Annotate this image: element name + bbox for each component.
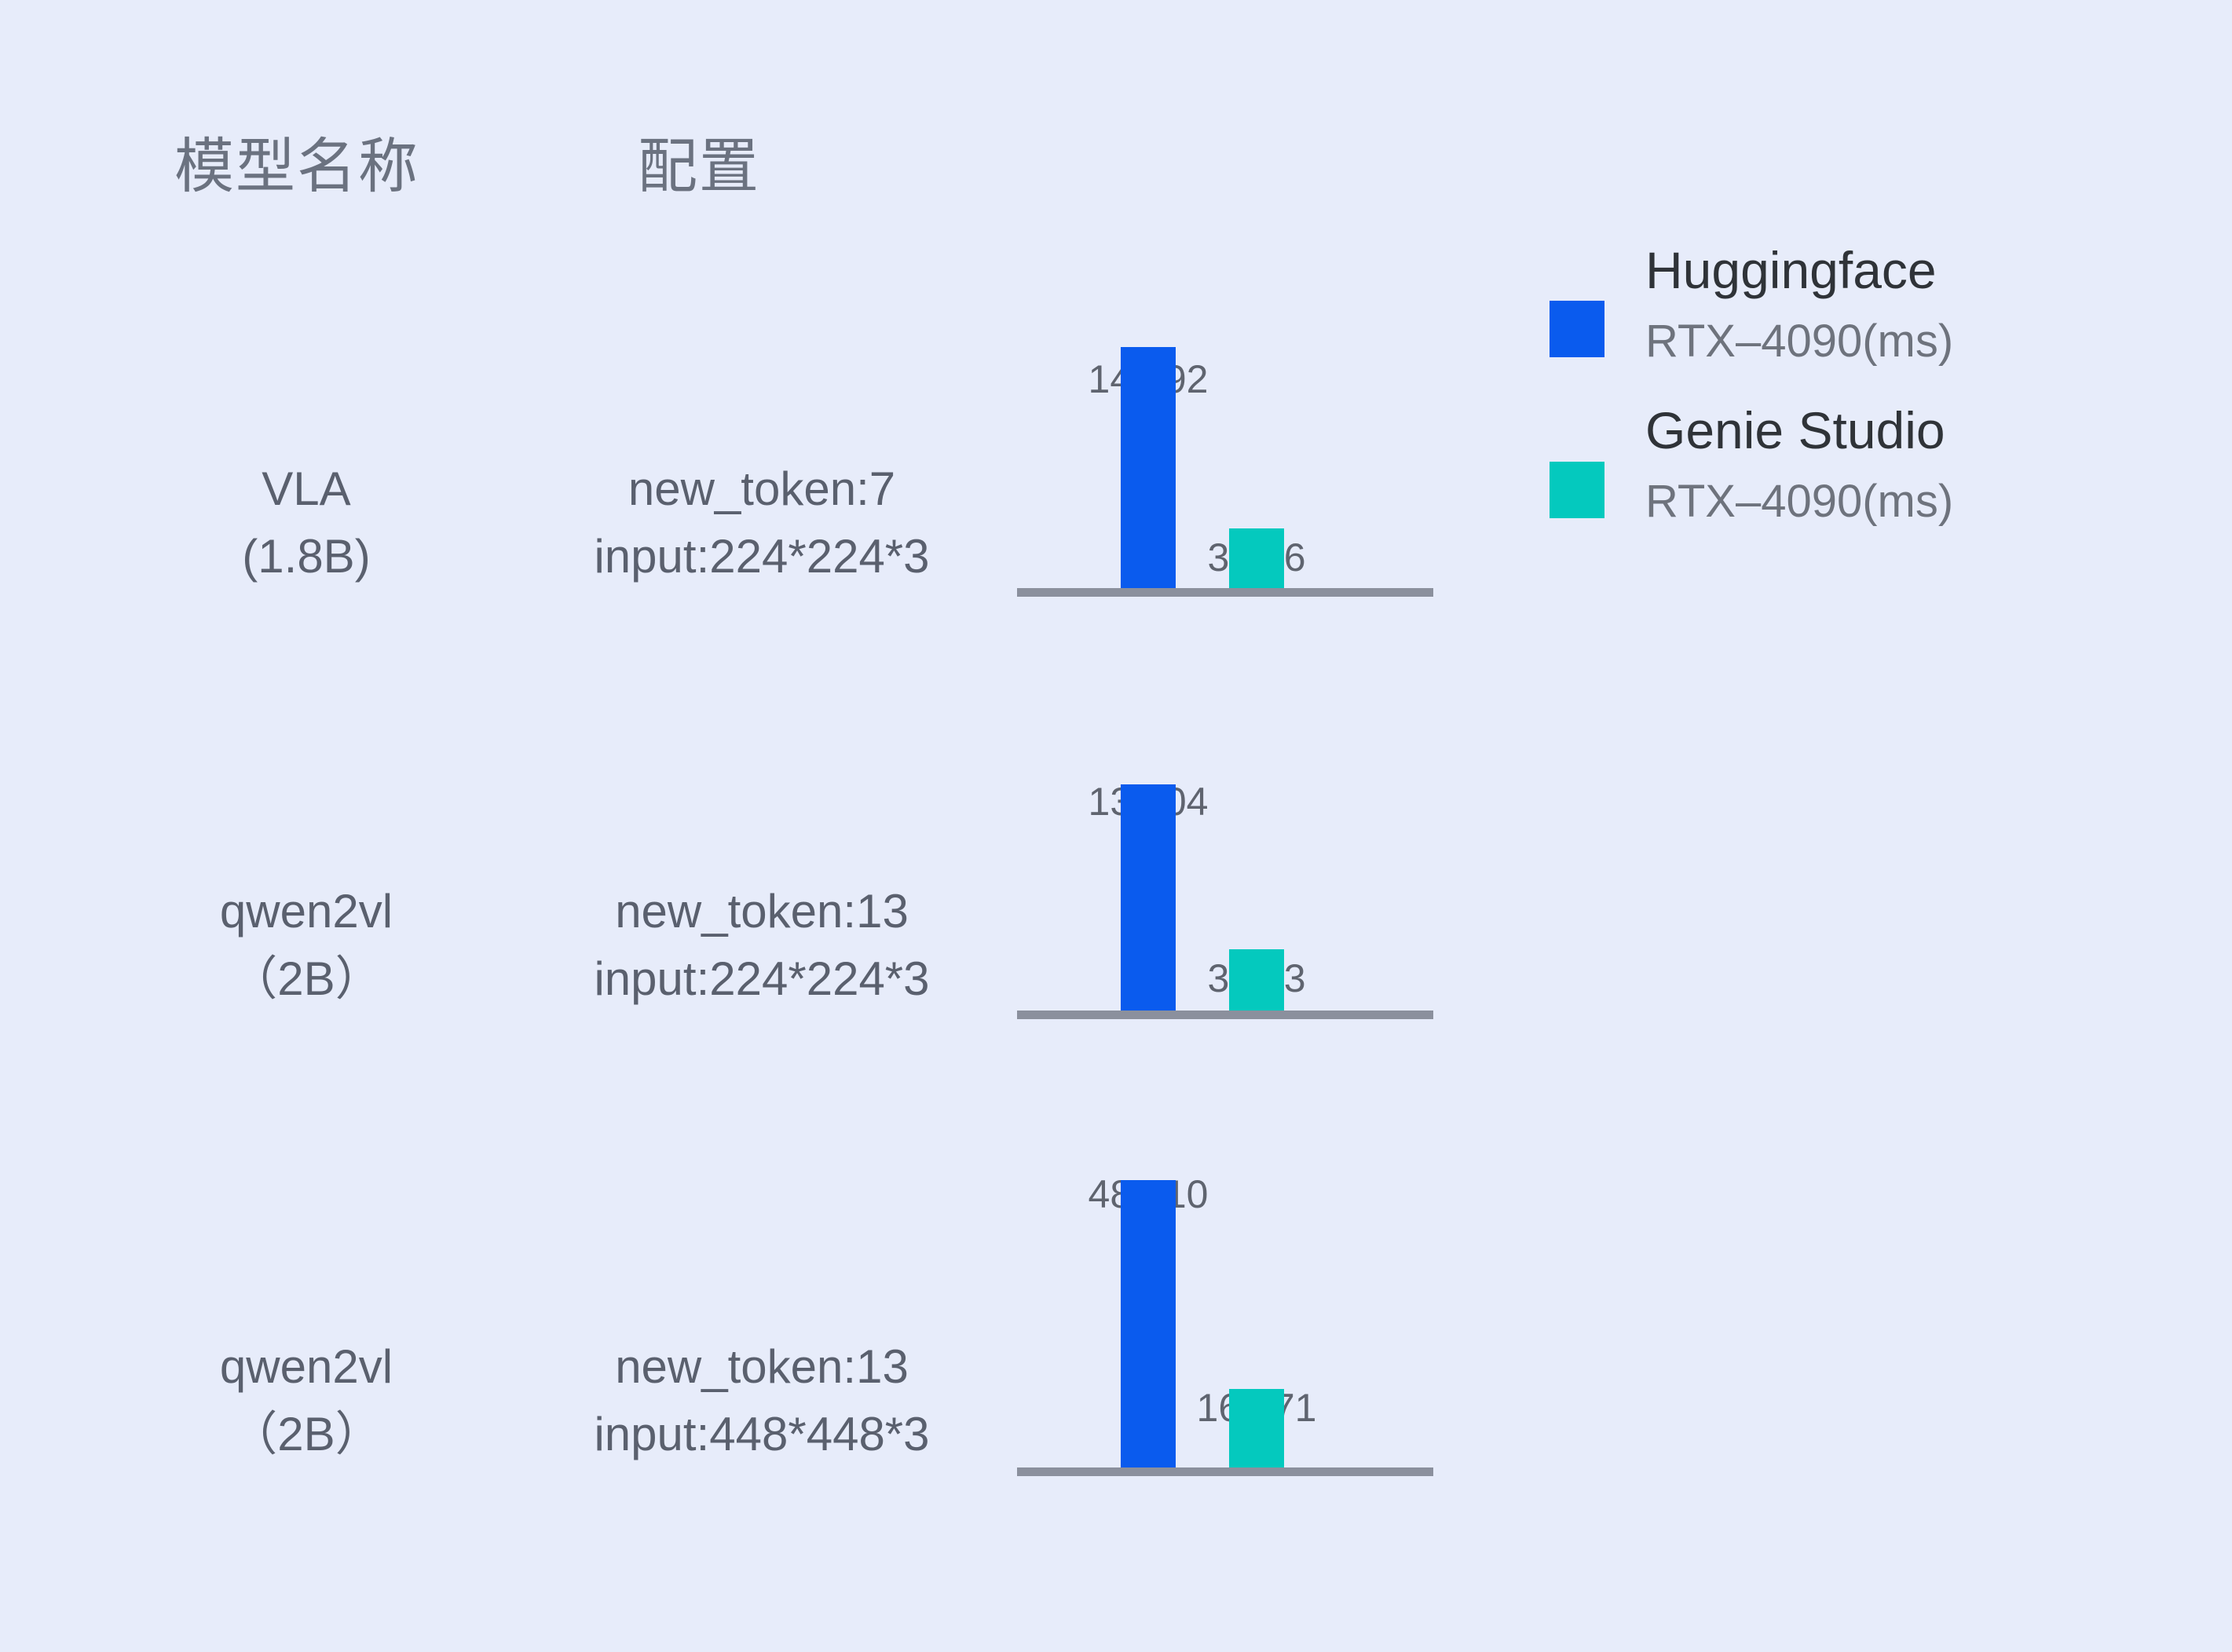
row-model-line2: (1.8B) — [141, 523, 471, 590]
bar-genie-studio[interactable] — [1229, 528, 1284, 588]
bar-huggingface[interactable] — [1121, 1180, 1176, 1473]
legend-subtitle: RTX–4090(ms) — [1645, 466, 2187, 537]
legend-swatch-huggingface — [1550, 301, 1604, 357]
column-header-config: 配置 — [638, 137, 760, 197]
row-config-label: new_token:7 input:224*224*3 — [471, 455, 1052, 590]
axis-baseline — [1017, 588, 1433, 597]
column-header-model-name: 模型名称 — [174, 137, 419, 197]
row-config-line2: input:448*448*3 — [471, 1401, 1052, 1468]
row-config-line1: new_token:7 — [471, 455, 1052, 523]
row-config-label: new_token:13 input:448*448*3 — [471, 1333, 1052, 1468]
row-model-label: qwen2vl （2B） — [141, 1333, 471, 1468]
row-config-line1: new_token:13 — [471, 1333, 1052, 1401]
legend-item-genie-studio[interactable]: Genie Studio RTX–4090(ms) — [1543, 424, 2187, 605]
bar-genie-studio[interactable] — [1229, 1389, 1284, 1467]
row-config-line2: input:224*224*3 — [471, 945, 1052, 1013]
row-config-line2: input:224*224*3 — [471, 523, 1052, 590]
legend-title: Genie Studio — [1645, 394, 2187, 466]
row-model-line2: （2B） — [141, 945, 471, 1013]
axis-baseline — [1017, 1467, 1433, 1476]
bar-huggingface[interactable] — [1121, 347, 1176, 588]
row-model-line1: qwen2vl — [141, 878, 471, 945]
bar-panel: 131.04 37.93 — [1017, 760, 1433, 1019]
legend-title: Huggingface — [1645, 234, 2187, 306]
chart-canvas: 模型名称 配置 VLA (1.8B) new_token:7 input:224… — [0, 0, 2232, 1652]
bar-panel: 488.10 160.71 — [1017, 1153, 1433, 1476]
row-config-label: new_token:13 input:224*224*3 — [471, 878, 1052, 1013]
chart-legend: Huggingface RTX–4090(ms) Genie Studio RT… — [1543, 243, 2187, 605]
row-model-line2: （2B） — [141, 1401, 471, 1468]
row-model-line1: qwen2vl — [141, 1333, 471, 1401]
row-config-line1: new_token:13 — [471, 878, 1052, 945]
row-model-line1: VLA — [141, 455, 471, 523]
row-model-label: qwen2vl （2B） — [141, 878, 471, 1013]
bar-panel: 141.92 36.56 — [1017, 338, 1433, 597]
legend-swatch-genie-studio — [1550, 462, 1604, 518]
bar-genie-studio[interactable] — [1229, 949, 1284, 1011]
axis-baseline — [1017, 1011, 1433, 1019]
row-model-label: VLA (1.8B) — [141, 455, 471, 590]
chart-row-qwen2vl-448: qwen2vl （2B） new_token:13 input:448*448*… — [0, 1153, 2232, 1514]
chart-row-qwen2vl-224: qwen2vl （2B） new_token:13 input:224*224*… — [0, 760, 2232, 1058]
legend-text-block: Genie Studio RTX–4090(ms) — [1645, 394, 2187, 537]
legend-text-block: Huggingface RTX–4090(ms) — [1645, 234, 2187, 377]
bar-huggingface[interactable] — [1121, 784, 1176, 1011]
legend-subtitle: RTX–4090(ms) — [1645, 306, 2187, 377]
